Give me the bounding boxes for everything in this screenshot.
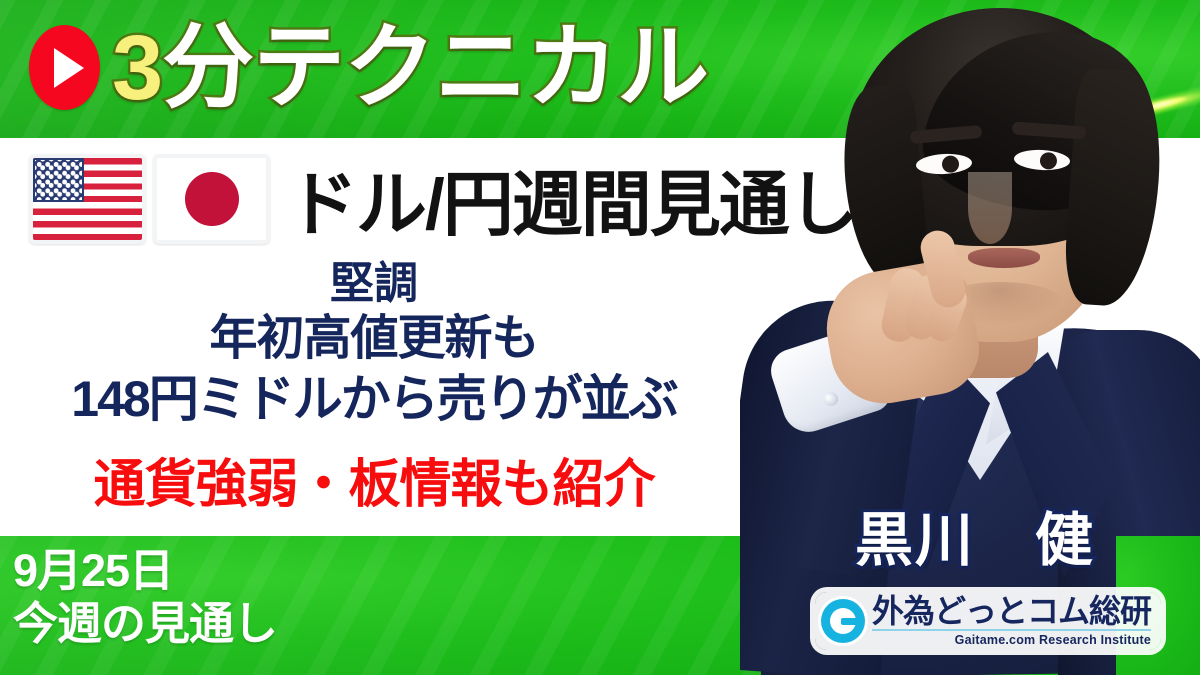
hair-side-right bbox=[1062, 67, 1166, 309]
footer-date: 9月25日 bbox=[13, 545, 277, 596]
mouth bbox=[968, 248, 1040, 268]
japan-flag-disc bbox=[185, 172, 239, 226]
us-flag-canton bbox=[33, 158, 84, 202]
banner-title-number: 3 bbox=[112, 17, 162, 119]
nose bbox=[968, 172, 1012, 244]
brand-name-jp: 外為どっとコム総研 bbox=[872, 595, 1151, 631]
presenter-name: 黒川 健 bbox=[855, 508, 1095, 574]
thumbnail-canvas: 3分テクニカル ドル/円週間見通し 堅調 年初高値更新も 148円ミドルから売り… bbox=[0, 0, 1200, 675]
banner-title: 3分テクニカル bbox=[112, 14, 708, 122]
us-flag-icon bbox=[29, 154, 146, 244]
banner-title-rest: 分テクニカル bbox=[162, 17, 708, 119]
brand-logo-text: 外為どっとコム総研 Gaitame.com Research Institute bbox=[872, 595, 1151, 647]
play-button-icon bbox=[29, 25, 100, 110]
pupil-left bbox=[942, 155, 960, 173]
us-flag-stars bbox=[35, 160, 82, 200]
flag-row bbox=[29, 154, 270, 244]
headline-line-3: 148円ミドルから売りが並ぶ bbox=[0, 368, 748, 430]
brand-logo: 外為どっとコム総研 Gaitame.com Research Institute bbox=[815, 592, 1161, 650]
headline-line-1: 堅調 bbox=[0, 258, 748, 310]
footer-subtitle: 今週の見通し bbox=[13, 596, 277, 652]
highlight-text: 通貨強弱・板情報も紹介 bbox=[0, 452, 748, 518]
headline-block: 堅調 年初高値更新も 148円ミドルから売りが並ぶ bbox=[0, 258, 748, 430]
footer-date-block: 9月25日 今週の見通し bbox=[13, 545, 277, 652]
brand-name-en: Gaitame.com Research Institute bbox=[872, 634, 1151, 647]
gaitame-g-icon bbox=[821, 599, 865, 643]
play-triangle-icon bbox=[54, 48, 84, 88]
headline-line-2: 年初高値更新も bbox=[0, 310, 748, 368]
japan-flag-icon bbox=[153, 154, 270, 244]
pupil-right bbox=[1040, 152, 1058, 170]
